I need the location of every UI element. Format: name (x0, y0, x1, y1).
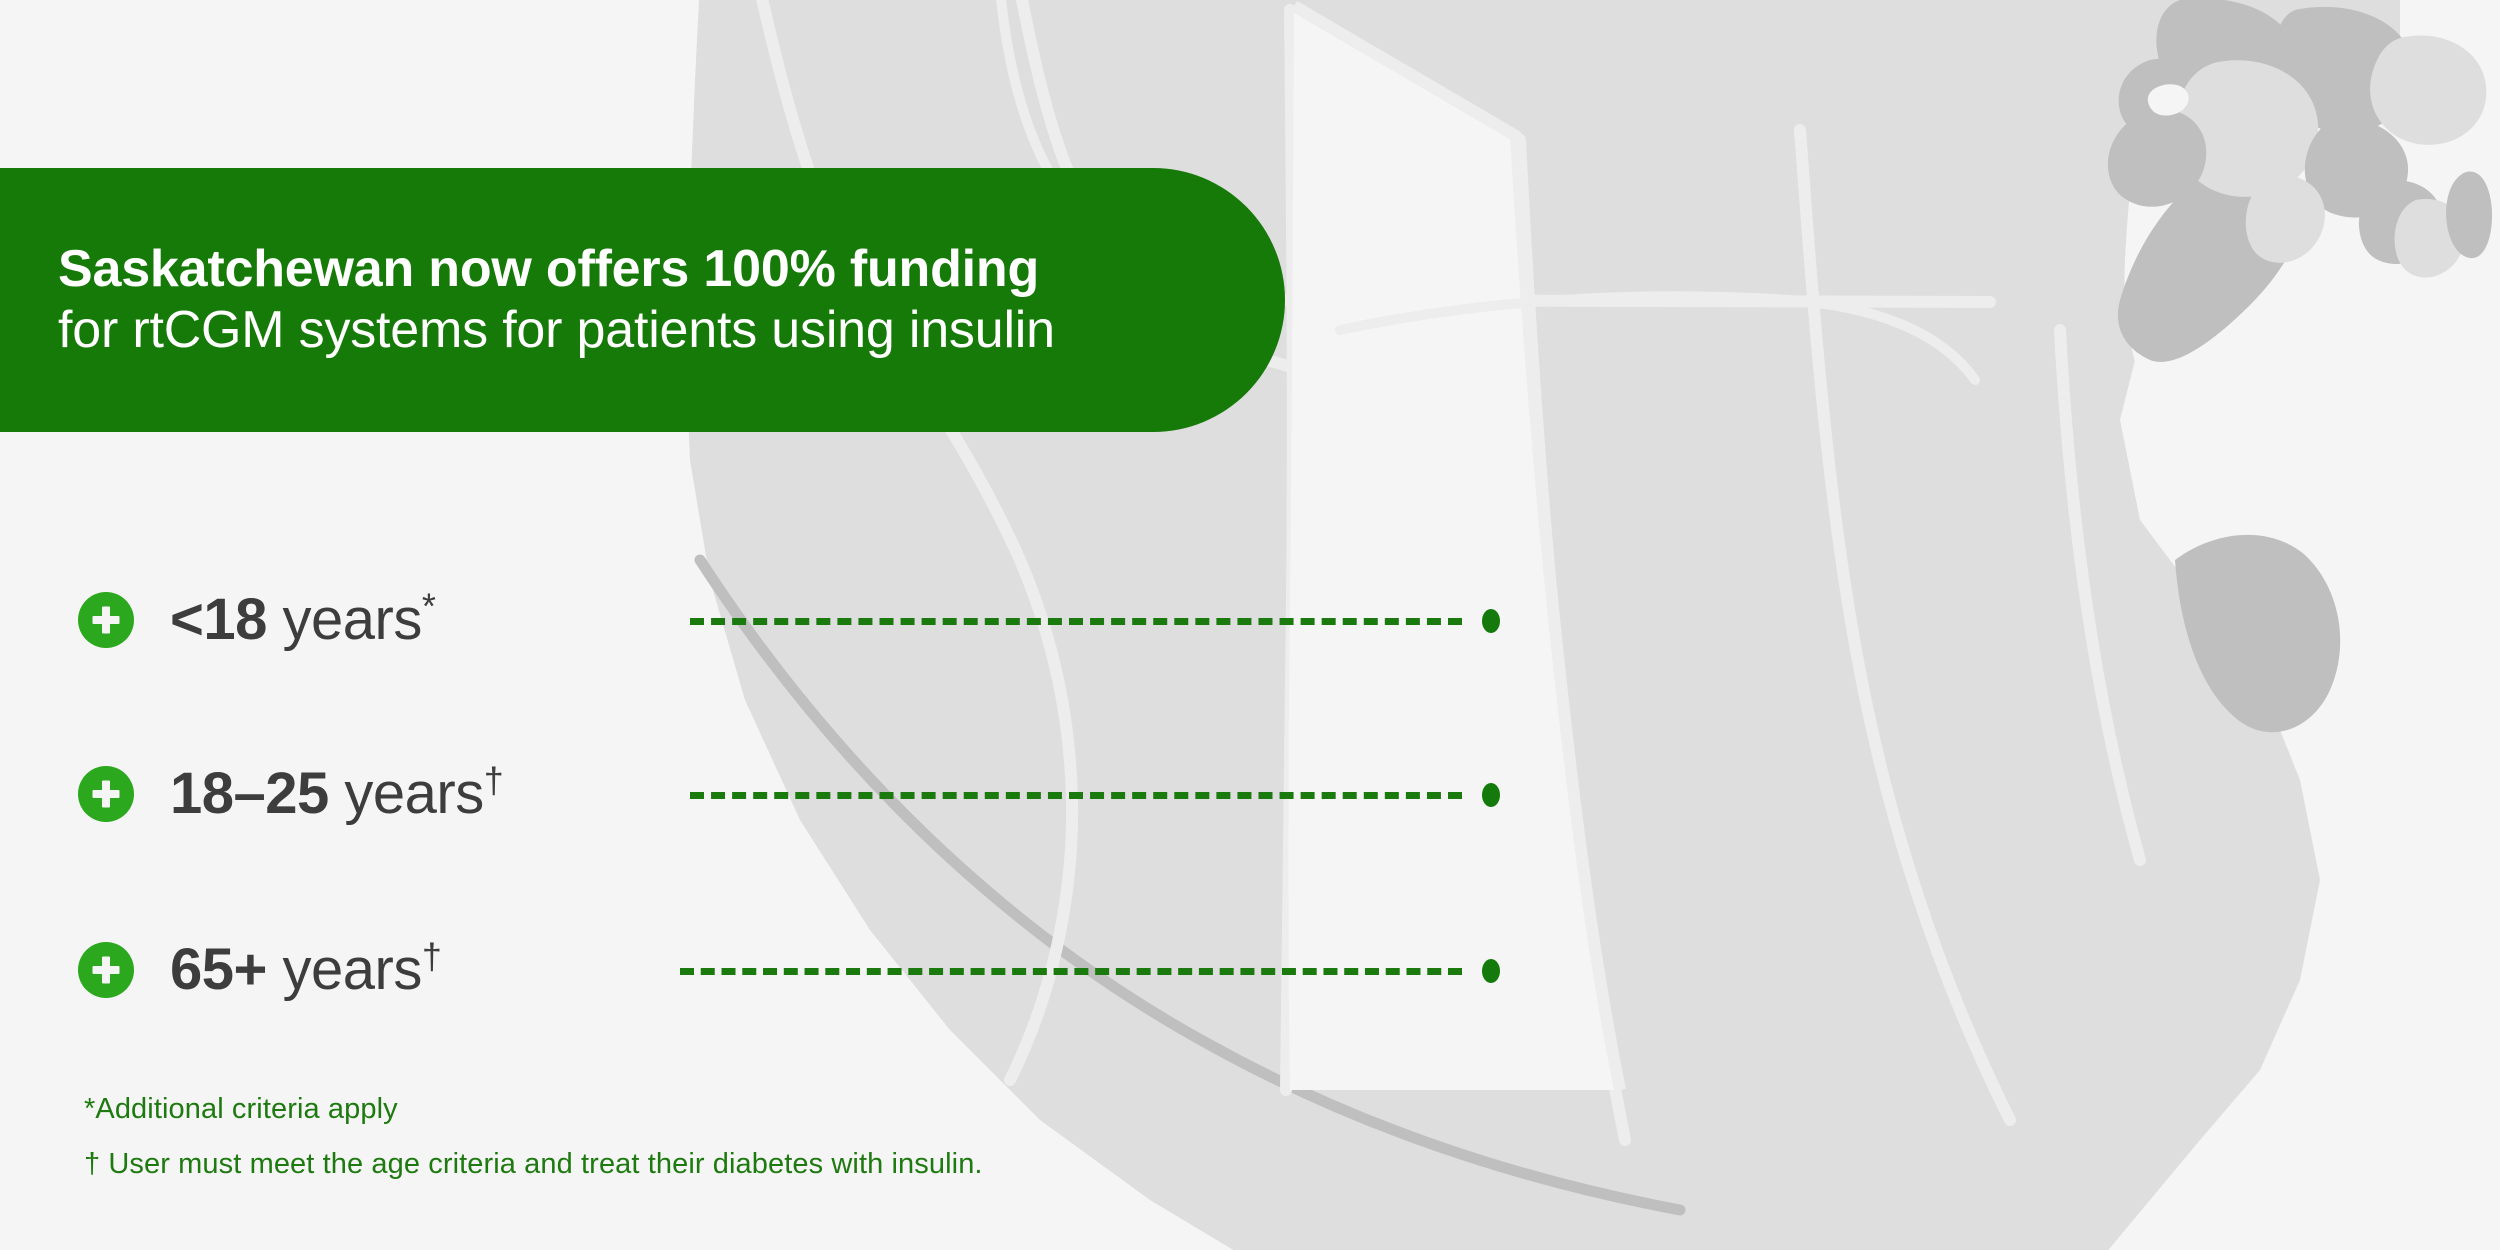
connector-line-under-18 (690, 617, 1500, 625)
dashed-line (690, 618, 1462, 625)
criteria-label: <18 years* (170, 591, 435, 649)
connector-line-65-plus (680, 967, 1500, 975)
dashed-line (680, 968, 1462, 975)
banner-headline-line1: Saskatchewan now offers 100% funding (58, 239, 1285, 300)
endpoint-dot (1482, 609, 1500, 633)
dashed-line (690, 792, 1462, 799)
criteria-age-emphasis: 65+ (170, 937, 267, 1002)
criteria-age-emphasis: 18–25 (170, 761, 329, 826)
criteria-label: 65+ years† (170, 941, 441, 999)
headline-banner: Saskatchewan now offers 100% funding for… (0, 168, 1285, 432)
infographic-canvas: Saskatchewan now offers 100% funding for… (0, 0, 2500, 1250)
criteria-footnote-marker: † (484, 760, 504, 801)
criteria-row-18-25: 18–25 years† (78, 752, 503, 836)
plus-circle-icon (78, 766, 134, 822)
footnote-asterisk: *Additional criteria apply (84, 1095, 983, 1124)
endpoint-dot (1482, 783, 1500, 807)
plus-circle-icon (78, 592, 134, 648)
footnotes-block: *Additional criteria apply † User must m… (84, 1095, 983, 1179)
criteria-footnote-marker: * (422, 586, 436, 627)
footnote-dagger: † User must meet the age criteria and tr… (84, 1150, 983, 1179)
plus-circle-icon (78, 942, 134, 998)
criteria-age-rest: years (267, 937, 422, 1002)
criteria-label: 18–25 years† (170, 765, 503, 823)
criteria-row-under-18: <18 years* (78, 578, 435, 662)
criteria-row-65-plus: 65+ years† (78, 928, 441, 1012)
endpoint-dot (1482, 959, 1500, 983)
connector-line-18-25 (690, 791, 1500, 799)
criteria-age-emphasis: <18 (170, 587, 267, 652)
banner-headline-line2: for rtCGM systems for patients using ins… (58, 300, 1285, 361)
criteria-age-rest: years (329, 761, 484, 826)
criteria-age-rest: years (267, 587, 422, 652)
criteria-footnote-marker: † (422, 936, 442, 977)
